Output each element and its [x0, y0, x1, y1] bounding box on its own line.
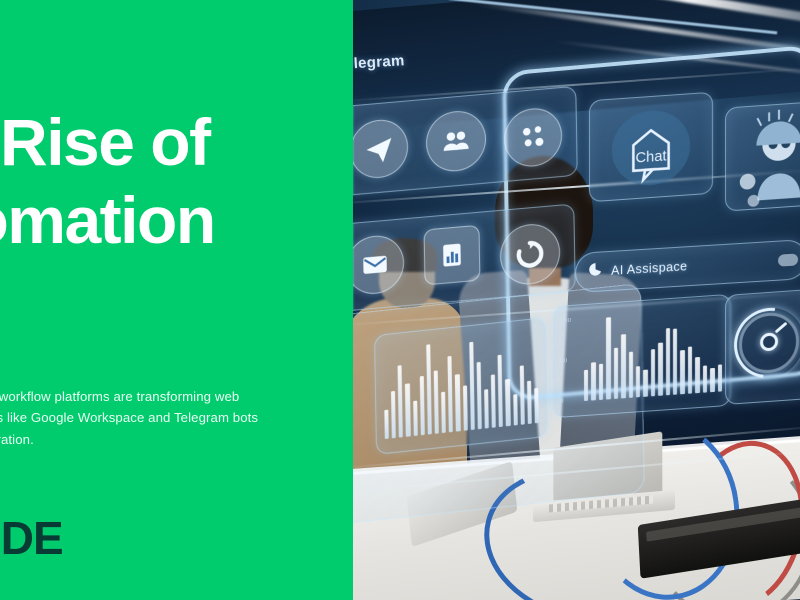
brand-logo: ODE — [0, 511, 63, 565]
avatar-character-panel[interactable] — [725, 100, 800, 211]
chart-bar — [527, 381, 532, 424]
chat-bubble-panel[interactable]: Chat — [589, 92, 713, 203]
chart-bar — [606, 317, 610, 399]
bar-chart-bars-right — [584, 309, 722, 401]
chart-bar — [636, 366, 640, 397]
chart-bar — [476, 361, 481, 429]
chart-bar — [441, 392, 446, 433]
chart-ytick-top: 100 — [560, 318, 572, 325]
chart-bar — [688, 346, 692, 394]
chart-bar — [463, 385, 468, 430]
body-line-2: ow tools like Google Workspace and Teleg… — [0, 407, 353, 428]
green-content-panel: e Rise of tomation on and workflow platf… — [0, 0, 353, 600]
chart-bar — [614, 348, 618, 399]
chart-bar — [584, 370, 588, 401]
headline-line-1: e Rise of — [0, 104, 353, 182]
radial-gauge-panel[interactable] — [725, 289, 800, 405]
chart-bar — [519, 365, 524, 425]
chart-bar — [384, 410, 389, 439]
chart-bar — [498, 355, 503, 427]
chart-bar — [591, 362, 595, 401]
bar-chart-panel-left[interactable] — [374, 317, 548, 455]
sync-refresh-icon[interactable] — [500, 222, 561, 287]
bar-chart-panel-right[interactable]: 100 50 0 — [553, 294, 731, 418]
chart-bar — [710, 368, 714, 392]
chart-ytick-bottom: 0 — [560, 398, 564, 404]
chart-bar — [513, 394, 518, 425]
cluster-nodes-icon[interactable] — [504, 106, 563, 169]
chart-bar — [658, 343, 662, 396]
chart-bar — [651, 349, 655, 397]
email-envelope-icon[interactable] — [353, 233, 405, 296]
chart-bar — [505, 379, 510, 426]
chart-bar — [718, 364, 722, 392]
chart-bar — [413, 401, 418, 436]
chart-bar — [703, 365, 707, 393]
chart-bar — [680, 350, 684, 394]
body-line-3: collaboration. — [0, 429, 353, 450]
chart-bar — [469, 342, 475, 430]
chart-bar — [398, 366, 403, 438]
chart-bar — [391, 391, 396, 438]
assistant-logo-icon — [588, 261, 603, 282]
slide-canvas: e Rise of tomation on and workflow platf… — [0, 0, 800, 600]
chart-bar — [673, 329, 677, 395]
chart-bar — [419, 376, 424, 436]
chart-bar — [434, 370, 439, 434]
chart-bar — [599, 363, 603, 400]
body-paragraph: on and workflow platforms are transformi… — [0, 386, 353, 450]
body-line-1: on and workflow platforms are transformi… — [0, 386, 353, 407]
chart-bar — [426, 344, 432, 434]
chart-bar — [484, 389, 489, 428]
telegram-paper-plane-icon[interactable] — [353, 117, 409, 180]
chart-bar — [629, 352, 633, 398]
chart-bar — [666, 328, 670, 396]
chart-bar — [405, 383, 410, 437]
document-chart-icon[interactable] — [423, 225, 480, 286]
search-action-pill[interactable] — [778, 253, 798, 266]
chart-bar — [455, 374, 460, 432]
chart-bar — [643, 369, 647, 397]
headline-line-2: tomation — [0, 182, 353, 260]
chart-bar — [695, 357, 699, 394]
chart-ytick-mid: 50 — [560, 358, 568, 365]
hero-photo: elegram — [353, 0, 800, 600]
chart-bar — [534, 388, 539, 423]
ai-workspace-label: AI Assispace — [611, 259, 687, 278]
svg-text:Chat: Chat — [635, 149, 666, 167]
page-title: e Rise of tomation — [0, 104, 353, 260]
chart-bar — [621, 334, 625, 398]
bar-chart-bars-left — [383, 333, 539, 439]
chart-bar — [491, 374, 496, 428]
chart-bar — [448, 356, 453, 432]
people-group-icon[interactable] — [425, 109, 486, 174]
